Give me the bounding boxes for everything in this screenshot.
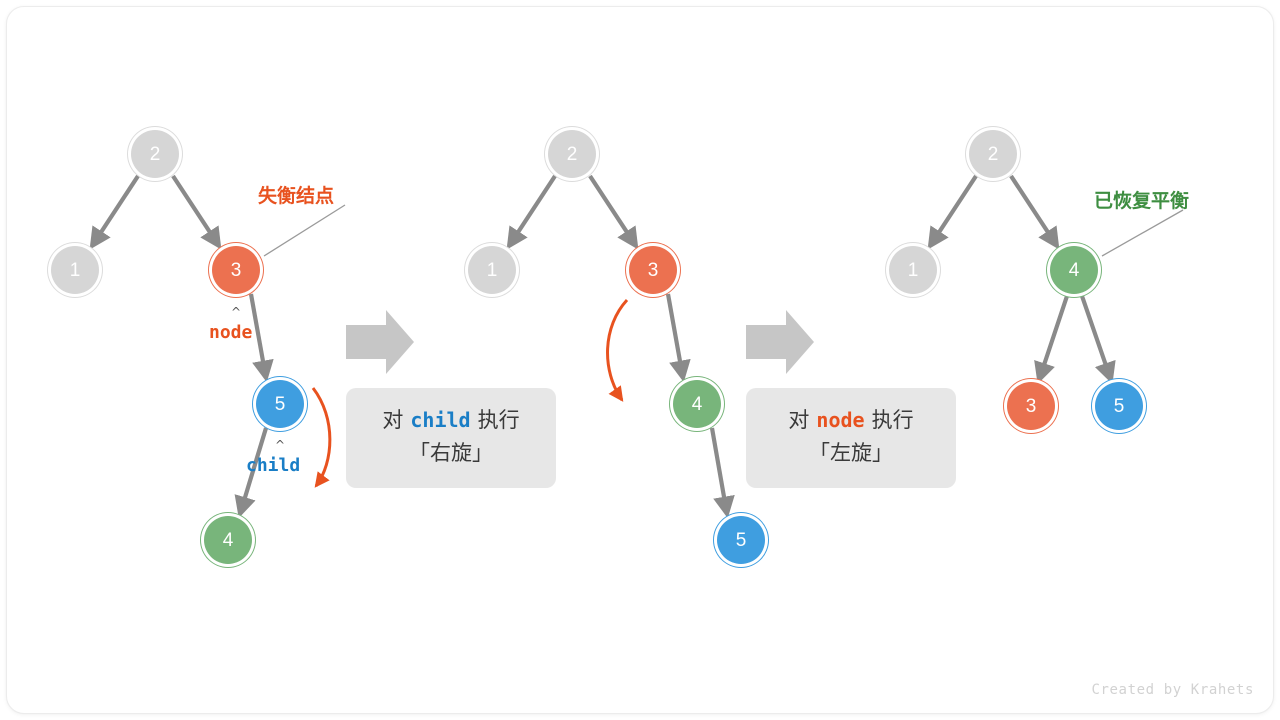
edge-m-3-to-4 [668, 294, 683, 378]
unbalanced-callout-label: 失衡结点 [258, 181, 334, 208]
tree-node[interactable]: 5 [1095, 382, 1143, 430]
step-line-primary: 对 node 执行 [788, 405, 913, 438]
right-rotation-arrow [313, 388, 330, 486]
tree-node-unbalanced[interactable]: 3 [212, 246, 260, 294]
tree-node[interactable]: 1 [51, 246, 99, 294]
tree-node[interactable]: 1 [468, 246, 516, 294]
rebalanced-callout-label: 已恢复平衡 [1094, 186, 1189, 213]
step-verb-text: 执行 [478, 405, 520, 438]
edge-2-to-3 [173, 176, 219, 246]
step-verb-text: 执行 [872, 405, 914, 438]
edge-a-4-to-5 [1082, 296, 1111, 380]
node-var-caret: ^ [231, 306, 241, 318]
watermark-credit: Created by Krahets [1091, 682, 1254, 698]
leader-line-rebalanced [1102, 210, 1183, 256]
diagram-stage: 2 1 3 5 4 失衡结点 ^ node ^ child 对 child 执行… [0, 0, 1280, 720]
tree-node[interactable]: 2 [131, 130, 179, 178]
step-description-left-rotate: 对 node 执行 「左旋」 [746, 388, 956, 488]
step-target-code: node [809, 405, 871, 436]
panel-before-edges [92, 176, 266, 514]
step-target-code: child [403, 405, 477, 436]
edge-m-2-to-3 [590, 176, 636, 246]
step-arrow-2 [746, 310, 814, 374]
tree-node-unbalanced[interactable]: 3 [629, 246, 677, 294]
step-line-operation: 「右旋」 [409, 438, 493, 471]
tree-node[interactable]: 5 [717, 516, 765, 564]
node-var-label: node [209, 322, 252, 343]
step-line-operation: 「左旋」 [809, 438, 893, 471]
step-operation-text: 「右旋」 [409, 438, 493, 471]
tree-node[interactable]: 4 [673, 380, 721, 428]
child-var-caret: ^ [275, 439, 285, 451]
leader-line-unbalanced [264, 205, 345, 256]
step-prefix-text: 对 [382, 405, 403, 438]
step-description-right-rotate: 对 child 执行 「右旋」 [346, 388, 556, 488]
left-rotation-arrow [608, 300, 627, 400]
step-arrow-1 [346, 310, 414, 374]
tree-node[interactable]: 1 [889, 246, 937, 294]
edge-a-2-to-1 [930, 176, 976, 246]
tree-node[interactable]: 4 [204, 516, 252, 564]
tree-node-rebalanced[interactable]: 4 [1050, 246, 1098, 294]
child-var-label: child [246, 455, 300, 476]
edge-m-2-to-1 [509, 176, 555, 246]
edge-3-to-5 [251, 294, 266, 378]
diagram-vector-layer [0, 0, 1280, 720]
tree-node[interactable]: 2 [969, 130, 1017, 178]
step-prefix-text: 对 [788, 405, 809, 438]
tree-node-child[interactable]: 5 [256, 380, 304, 428]
edge-m-4-to-5 [712, 428, 727, 514]
tree-node[interactable]: 2 [548, 130, 596, 178]
edge-a-2-to-4 [1011, 176, 1057, 246]
step-operation-text: 「左旋」 [809, 438, 893, 471]
step-line-primary: 对 child 执行 [382, 405, 519, 438]
edge-a-4-to-3 [1039, 296, 1067, 380]
tree-node[interactable]: 3 [1007, 382, 1055, 430]
edge-2-to-1 [92, 176, 138, 246]
